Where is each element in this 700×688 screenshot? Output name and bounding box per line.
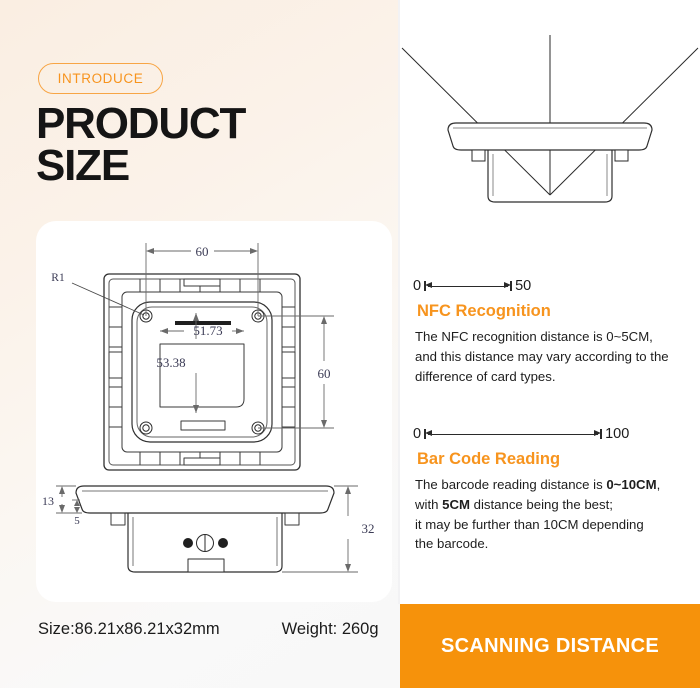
page-title: PRODUCT SIZE — [36, 103, 245, 187]
nfc-section-title: NFC Recognition — [417, 302, 669, 321]
introduce-badge: INTRODUCE — [38, 63, 163, 94]
nfc-scale-max: 50 — [515, 279, 531, 294]
dim-side-lip-thickness: 5 — [74, 515, 80, 527]
nfc-body-line-2: and this distance may vary according to … — [415, 347, 669, 367]
dim-front-top-width: 60 — [196, 244, 209, 259]
barcode-body-line-4: the barcode. — [415, 534, 660, 554]
nfc-body-line-3: difference of card types. — [415, 367, 669, 387]
nfc-body-line-1: The NFC recognition distance is 0~5CM, — [415, 327, 669, 347]
barcode-scale-max: 100 — [605, 427, 629, 442]
right-panel-scanning-distance: 10cm 80° 0 50 NFC Recognition The NFC re… — [400, 0, 700, 688]
nfc-scale-row: 0 50 — [413, 277, 669, 295]
barcode-section-body: The barcode reading distance is 0~10CM, … — [415, 475, 660, 554]
size-weight-row: Size:86.21x86.21x32mm Weight: 260g — [0, 620, 400, 639]
technical-drawing-svg: 60 60 51.73 53.38 R1 13 5 32 — [36, 221, 392, 602]
dim-side-top-thickness: 13 — [42, 494, 54, 508]
section-barcode-reading: 0 100 Bar Code Reading The barcode readi… — [413, 425, 660, 554]
page-title-line-1: PRODUCT — [36, 103, 245, 145]
dim-inner-height: 53.38 — [156, 355, 185, 370]
barcode-body-line-3: it may be further than 10CM depending — [415, 515, 660, 535]
section-nfc-recognition: 0 50 NFC Recognition The NFC recognition… — [413, 277, 669, 386]
page-title-line-2: SIZE — [36, 145, 245, 187]
barcode-scale-row: 0 100 — [413, 425, 660, 443]
barcode-scale-min: 0 — [413, 427, 421, 442]
left-panel-product-size: INTRODUCE PRODUCT SIZE — [0, 0, 400, 688]
product-spec-page: INTRODUCE PRODUCT SIZE — [0, 0, 700, 688]
nfc-section-body: The NFC recognition distance is 0~5CM, a… — [415, 327, 669, 386]
weight-text: Weight: 260g — [282, 620, 379, 639]
dim-side-total-height: 32 — [362, 521, 375, 536]
nfc-scale-min: 0 — [413, 279, 421, 294]
scanning-distance-banner-label: SCANNING DISTANCE — [441, 635, 659, 658]
technical-drawing-card: 60 60 51.73 53.38 R1 13 5 32 — [36, 221, 392, 602]
barcode-body-line-1: The barcode reading distance is 0~10CM, — [415, 475, 660, 495]
scanning-distance-banner: SCANNING DISTANCE — [400, 604, 700, 688]
dim-radius-r1: R1 — [51, 272, 65, 284]
introduce-badge-label: INTRODUCE — [58, 71, 144, 86]
size-text: Size:86.21x86.21x32mm — [38, 620, 220, 639]
dim-inner-width: 51.73 — [193, 323, 222, 338]
barcode-scale-bar — [424, 429, 602, 439]
scan-angle-diagram — [400, 10, 700, 260]
dim-front-right-height: 60 — [318, 366, 331, 381]
barcode-section-title: Bar Code Reading — [417, 450, 660, 469]
barcode-body-line-2: with 5CM distance being the best; — [415, 495, 660, 515]
nfc-scale-bar — [424, 281, 512, 291]
